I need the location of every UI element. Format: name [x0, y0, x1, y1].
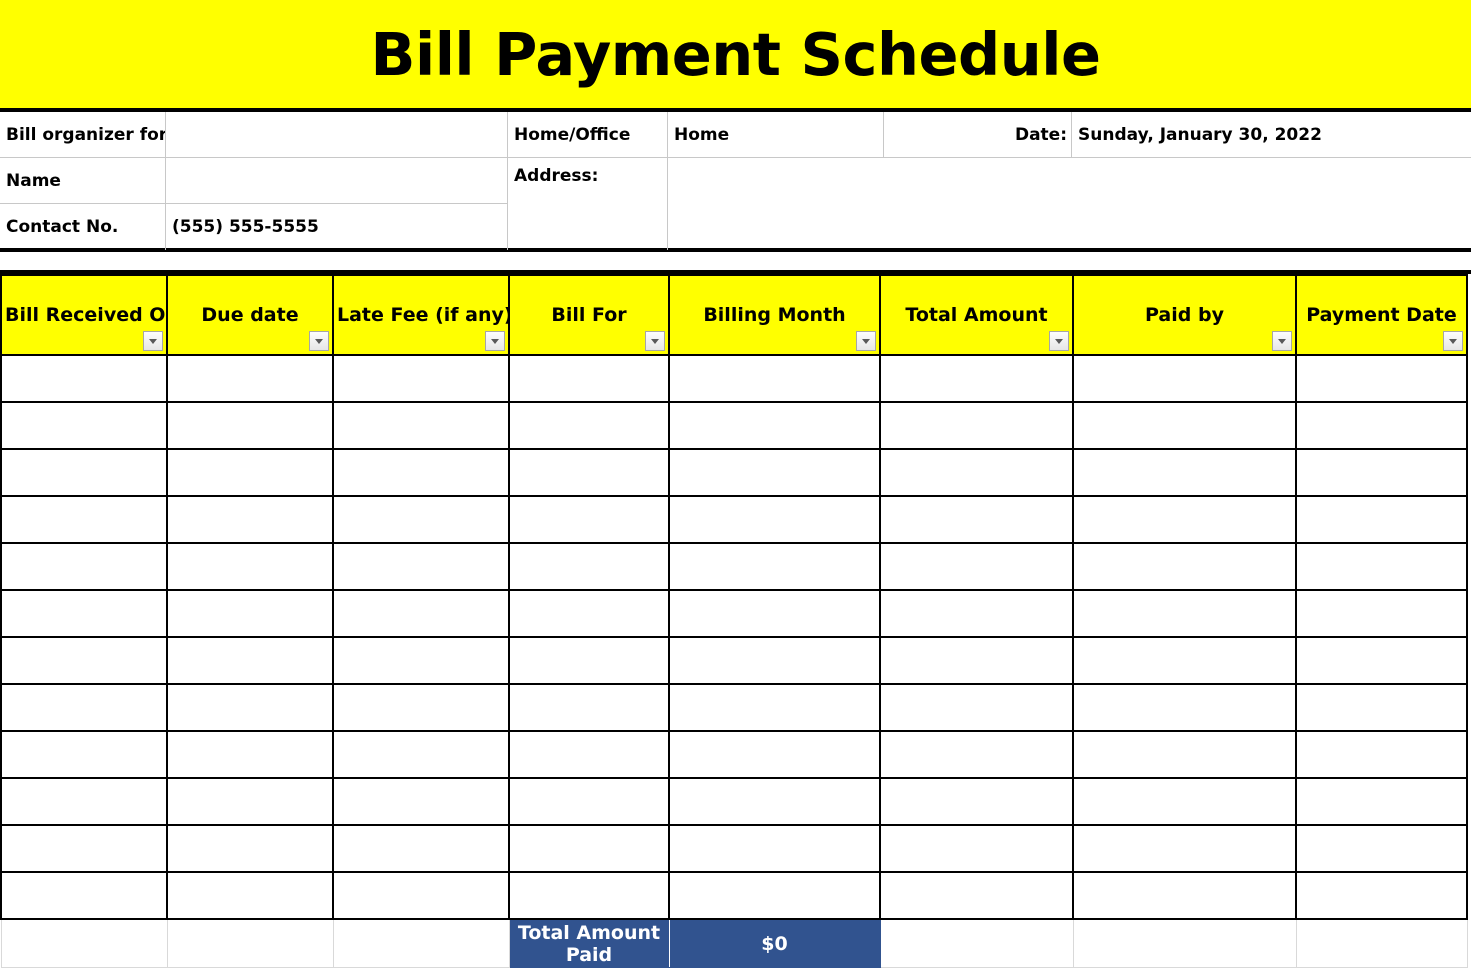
filter-dropdown-bill-received-on[interactable]: [143, 331, 163, 351]
table-cell[interactable]: [1073, 590, 1296, 637]
total-amount-paid-value: $0: [669, 919, 880, 968]
table-cell[interactable]: [1, 637, 167, 684]
table-cell[interactable]: [1073, 355, 1296, 402]
page-title: Bill Payment Schedule: [371, 25, 1101, 84]
total-row-spacer-6: [1296, 919, 1467, 968]
table-cell[interactable]: [509, 543, 669, 590]
table-cell[interactable]: [167, 496, 333, 543]
table-cell[interactable]: [167, 825, 333, 872]
total-row-spacer-5: [1073, 919, 1296, 968]
table-cell[interactable]: [1296, 449, 1467, 496]
filter-dropdown-due-date[interactable]: [309, 331, 329, 351]
info-value-address[interactable]: [668, 158, 1471, 250]
table-cell[interactable]: [333, 778, 509, 825]
table-cell[interactable]: [1, 825, 167, 872]
filter-dropdown-paid-by[interactable]: [1272, 331, 1292, 351]
table-cell[interactable]: [1073, 543, 1296, 590]
section-separator: [0, 252, 1471, 274]
table-cell[interactable]: [509, 637, 669, 684]
chevron-down-icon: [1449, 339, 1457, 344]
table-cell[interactable]: [880, 684, 1073, 731]
column-header-label: Paid by: [1074, 305, 1295, 326]
info-label-home-office: Home/Office: [508, 112, 668, 158]
info-value-bill-organizer-for[interactable]: [166, 112, 508, 158]
table-cell[interactable]: [333, 496, 509, 543]
filter-dropdown-total-amount[interactable]: [1049, 331, 1069, 351]
table-cell[interactable]: [509, 449, 669, 496]
table-row: [1, 825, 1467, 872]
info-label-bill-organizer-for: Bill organizer for: [0, 112, 166, 158]
table-cell[interactable]: [1073, 449, 1296, 496]
column-header-billing-month[interactable]: Billing Month: [669, 275, 880, 355]
column-header-due-date[interactable]: Due date: [167, 275, 333, 355]
table-cell[interactable]: [1073, 778, 1296, 825]
info-value-home-office[interactable]: Home: [668, 112, 884, 158]
title-banner: Bill Payment Schedule: [0, 0, 1471, 112]
table-cell[interactable]: [669, 825, 880, 872]
table-cell[interactable]: [1296, 590, 1467, 637]
chevron-down-icon: [1278, 339, 1286, 344]
table-cell[interactable]: [1296, 872, 1467, 919]
column-header-label: Billing Month: [670, 305, 879, 326]
total-row-spacer-4: [880, 919, 1073, 968]
table-cell[interactable]: [1073, 684, 1296, 731]
table-cell[interactable]: [333, 449, 509, 496]
table-cell[interactable]: [1296, 731, 1467, 778]
table-row: [1, 590, 1467, 637]
table-cell[interactable]: [669, 590, 880, 637]
info-value-name[interactable]: [166, 158, 508, 204]
table-cell[interactable]: [669, 449, 880, 496]
table-cell[interactable]: [333, 355, 509, 402]
chevron-down-icon: [1055, 339, 1063, 344]
table-cell[interactable]: [167, 449, 333, 496]
table-cell[interactable]: [880, 872, 1073, 919]
table-cell[interactable]: [167, 684, 333, 731]
table-cell[interactable]: [1, 402, 167, 449]
chevron-down-icon: [862, 339, 870, 344]
filter-dropdown-bill-for[interactable]: [645, 331, 665, 351]
table-row: [1, 778, 1467, 825]
table-cell[interactable]: [669, 872, 880, 919]
table-cell[interactable]: [1296, 402, 1467, 449]
table-cell[interactable]: [333, 590, 509, 637]
table-cell[interactable]: [333, 402, 509, 449]
bill-schedule-table: Bill Received On Due date Late Fee (if a…: [0, 274, 1468, 968]
table-cell[interactable]: [1, 731, 167, 778]
info-block: Bill organizer for Name Contact No. (555…: [0, 112, 1471, 252]
table-cell[interactable]: [333, 637, 509, 684]
table-cell[interactable]: [333, 825, 509, 872]
table-cell[interactable]: [509, 872, 669, 919]
column-header-label: Bill Received On: [2, 305, 166, 326]
table-cell[interactable]: [1296, 637, 1467, 684]
table-cell[interactable]: [1, 355, 167, 402]
table-cell[interactable]: [880, 825, 1073, 872]
info-label-date: Date:: [884, 112, 1072, 158]
table-row: [1, 872, 1467, 919]
table-cell[interactable]: [1296, 496, 1467, 543]
total-amount-paid-label: Total Amount Paid: [509, 919, 669, 968]
chevron-down-icon: [651, 339, 659, 344]
table-cell[interactable]: [167, 731, 333, 778]
filter-dropdown-billing-month[interactable]: [856, 331, 876, 351]
table-cell[interactable]: [167, 872, 333, 919]
table-cell[interactable]: [1073, 872, 1296, 919]
table-row: [1, 449, 1467, 496]
table-cell[interactable]: [669, 731, 880, 778]
table-cell[interactable]: [1073, 731, 1296, 778]
total-row-spacer-1: [1, 919, 167, 968]
table-cell[interactable]: [509, 355, 669, 402]
column-header-payment-date[interactable]: Payment Date: [1296, 275, 1467, 355]
table-row: [1, 496, 1467, 543]
table-cell[interactable]: [880, 778, 1073, 825]
total-row: Total Amount Paid $0: [1, 919, 1467, 968]
table-row: [1, 731, 1467, 778]
column-header-label: Late Fee (if any): [334, 305, 508, 326]
table-cell[interactable]: [509, 825, 669, 872]
column-header-total-amount[interactable]: Total Amount: [880, 275, 1073, 355]
table-cell[interactable]: [333, 543, 509, 590]
table-cell[interactable]: [1296, 684, 1467, 731]
column-header-label: Total Amount: [881, 305, 1072, 326]
table-cell[interactable]: [880, 590, 1073, 637]
table-cell[interactable]: [167, 355, 333, 402]
table-cell[interactable]: [333, 872, 509, 919]
total-row-spacer-2: [167, 919, 333, 968]
table-row: [1, 684, 1467, 731]
table-row: [1, 543, 1467, 590]
table-cell[interactable]: [669, 402, 880, 449]
table-row: [1, 402, 1467, 449]
table-header-row: Bill Received On Due date Late Fee (if a…: [1, 275, 1467, 355]
table-cell[interactable]: [1, 496, 167, 543]
column-header-label: Bill For: [510, 305, 668, 326]
table-cell[interactable]: [669, 778, 880, 825]
table-cell[interactable]: [669, 543, 880, 590]
table-cell[interactable]: [1073, 402, 1296, 449]
column-header-late-fee[interactable]: Late Fee (if any): [333, 275, 509, 355]
total-row-spacer-3: [333, 919, 509, 968]
column-header-paid-by[interactable]: Paid by: [1073, 275, 1296, 355]
table-cell[interactable]: [880, 731, 1073, 778]
table-cell[interactable]: [880, 637, 1073, 684]
table-cell[interactable]: [669, 637, 880, 684]
table-cell[interactable]: [509, 590, 669, 637]
column-header-label: Due date: [168, 305, 332, 326]
table-cell[interactable]: [509, 778, 669, 825]
table-cell[interactable]: [509, 496, 669, 543]
column-header-bill-for[interactable]: Bill For: [509, 275, 669, 355]
table-cell[interactable]: [880, 402, 1073, 449]
chevron-down-icon: [315, 339, 323, 344]
table-cell[interactable]: [1, 872, 167, 919]
table-row: [1, 637, 1467, 684]
info-value-date[interactable]: Sunday, January 30, 2022: [1072, 112, 1471, 158]
table-cell[interactable]: [669, 355, 880, 402]
table-cell[interactable]: [1296, 778, 1467, 825]
table-cell[interactable]: [1073, 496, 1296, 543]
table-cell[interactable]: [1, 543, 167, 590]
table-cell[interactable]: [1, 590, 167, 637]
filter-dropdown-late-fee[interactable]: [485, 331, 505, 351]
table-footer: Total Amount Paid $0: [1, 919, 1467, 968]
table-cell[interactable]: [1296, 825, 1467, 872]
chevron-down-icon: [149, 339, 157, 344]
column-header-label: Payment Date: [1297, 305, 1466, 326]
table-cell[interactable]: [333, 731, 509, 778]
table-cell[interactable]: [167, 402, 333, 449]
table-row: [1, 355, 1467, 402]
table-cell[interactable]: [1, 778, 167, 825]
table-cell[interactable]: [1296, 355, 1467, 402]
table-cell[interactable]: [509, 731, 669, 778]
table-cell[interactable]: [167, 778, 333, 825]
column-header-bill-received-on[interactable]: Bill Received On: [1, 275, 167, 355]
table-cell[interactable]: [1, 449, 167, 496]
table-body: [1, 355, 1467, 919]
table-cell[interactable]: [669, 684, 880, 731]
table-cell[interactable]: [509, 402, 669, 449]
table-cell[interactable]: [880, 449, 1073, 496]
table-cell[interactable]: [333, 684, 509, 731]
table-cell[interactable]: [1, 684, 167, 731]
filter-dropdown-payment-date[interactable]: [1443, 331, 1463, 351]
table-cell[interactable]: [167, 590, 333, 637]
table-cell[interactable]: [880, 496, 1073, 543]
table-cell[interactable]: [880, 543, 1073, 590]
table-cell[interactable]: [669, 496, 880, 543]
table-cell[interactable]: [880, 355, 1073, 402]
table-cell[interactable]: [1296, 543, 1467, 590]
info-label-contact-no: Contact No.: [0, 204, 166, 250]
table-cell[interactable]: [167, 637, 333, 684]
table-cell[interactable]: [167, 543, 333, 590]
info-label-address: Address:: [508, 158, 668, 250]
chevron-down-icon: [491, 339, 499, 344]
table-cell[interactable]: [1073, 825, 1296, 872]
table-cell[interactable]: [509, 684, 669, 731]
info-label-name: Name: [0, 158, 166, 204]
info-value-contact-no[interactable]: (555) 555-5555: [166, 204, 508, 250]
table-cell[interactable]: [1073, 637, 1296, 684]
